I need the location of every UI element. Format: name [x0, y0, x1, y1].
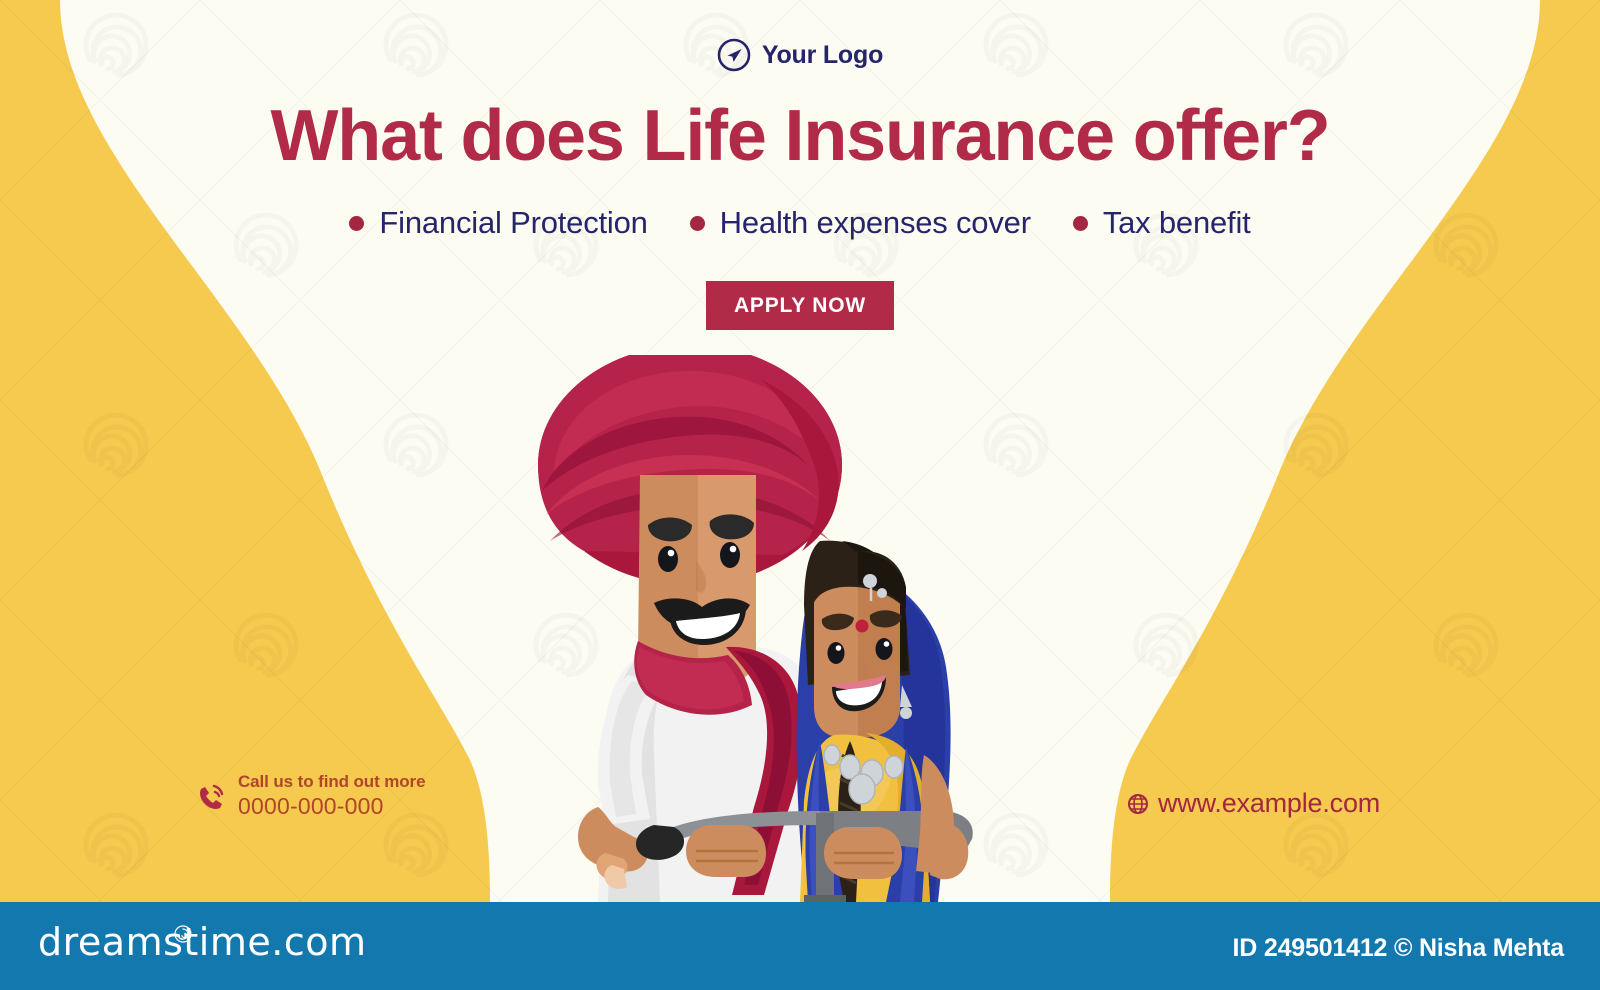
phone-number: 0000-000-000 — [238, 793, 425, 820]
image-credit: ID 249501412 © Nisha Mehta — [1233, 934, 1564, 963]
bullet-dot-icon — [690, 216, 705, 231]
globe-icon — [1127, 793, 1149, 815]
brand-logo[interactable]: Your Logo — [0, 38, 1600, 72]
phone-contact[interactable]: Call us to find out more 0000-000-000 — [196, 772, 425, 820]
brand-logo-label: Your Logo — [762, 41, 883, 70]
list-item-label: Tax benefit — [1103, 205, 1251, 241]
cta-container: APPLY NOW — [0, 281, 1600, 330]
page-title: What does Life Insurance offer? — [0, 100, 1600, 172]
phone-ringing-icon — [196, 783, 227, 814]
screenshot-root: Your Logo What does Life Insurance offer… — [0, 0, 1600, 990]
list-item: Health expenses cover — [690, 205, 1031, 241]
website-url: www.example.com — [1158, 788, 1380, 819]
dreamstime-logo-label: dreamstime.com — [38, 920, 366, 964]
phone-caption: Call us to find out more — [238, 772, 425, 792]
list-item: Financial Protection — [349, 205, 647, 241]
paper-plane-circle-icon — [717, 38, 751, 72]
dreamstime-spiral-icon — [174, 925, 192, 943]
indian-couple-with-bicycle-illustration — [520, 355, 1080, 902]
apply-now-button[interactable]: APPLY NOW — [706, 281, 894, 330]
stock-site-footer: dreamstime.com ID 249501412 © Nisha Meht… — [0, 902, 1600, 990]
list-item: Tax benefit — [1073, 205, 1251, 241]
benefit-list: Financial Protection Health expenses cov… — [0, 205, 1600, 241]
bullet-dot-icon — [349, 216, 364, 231]
website-contact[interactable]: www.example.com — [1127, 788, 1380, 819]
bullet-dot-icon — [1073, 216, 1088, 231]
banner-canvas: Your Logo What does Life Insurance offer… — [0, 0, 1600, 902]
list-item-label: Financial Protection — [379, 205, 647, 241]
dreamstime-logo[interactable]: dreamstime.com — [38, 920, 366, 964]
list-item-label: Health expenses cover — [720, 205, 1031, 241]
